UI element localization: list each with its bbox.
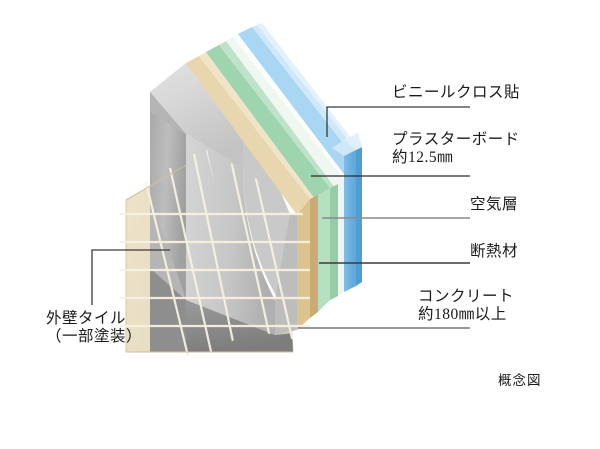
label-exterior-tile-line2: （一部塗装） — [46, 328, 142, 346]
label-air-layer: 空気層 — [470, 196, 518, 214]
figure-caption: 概念図 — [498, 373, 542, 389]
label-insulation-line1: 断熱材 — [470, 243, 518, 261]
diagram-canvas: ビニールクロス貼 プラスターボード 約12.5㎜ 空気層 断熱材 コンクリート … — [0, 0, 600, 449]
label-concrete-line2: 約180㎜以上 — [418, 306, 514, 324]
label-insulation: 断熱材 — [470, 243, 518, 261]
label-concrete: コンクリート 約180㎜以上 — [418, 288, 514, 325]
label-concrete-line1: コンクリート — [418, 288, 514, 306]
label-exterior-tile: 外壁タイル （一部塗装） — [46, 310, 142, 347]
label-plasterboard-line2: 約12.5㎜ — [392, 149, 520, 167]
figure-caption-text: 概念図 — [498, 373, 542, 389]
label-vinyl-cloth-line1: ビニールクロス貼 — [392, 84, 520, 102]
label-exterior-tile-line1: 外壁タイル — [46, 310, 142, 328]
label-plasterboard-line1: プラスターボード — [392, 131, 520, 149]
label-vinyl-cloth: ビニールクロス貼 — [392, 84, 520, 102]
slab-edge-air — [338, 180, 344, 296]
slab-edge-mortar — [297, 195, 318, 330]
slab-edge-insulation — [318, 184, 338, 312]
label-plasterboard: プラスターボード 約12.5㎜ — [392, 131, 520, 168]
label-air-layer-line1: 空気層 — [470, 196, 518, 214]
